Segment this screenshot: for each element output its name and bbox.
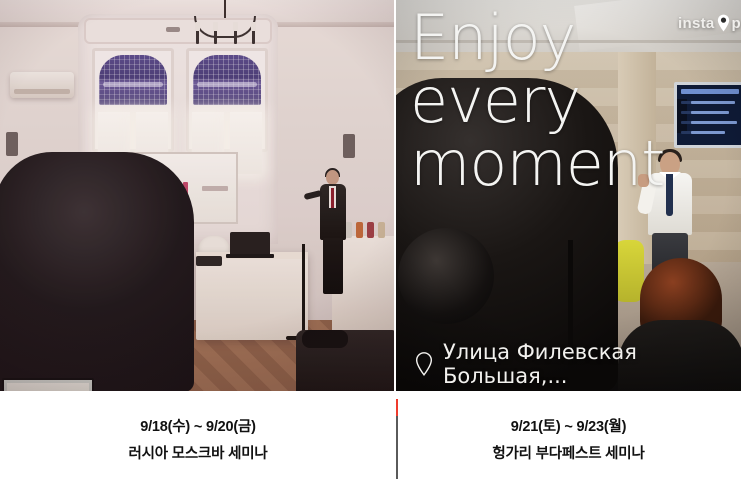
caption-bar: 9/18(수) ~ 9/20(금) 러시아 모스크바 세미나 9/21(토) ~… [0,391,741,491]
chandelier-candle [233,22,238,31]
chandelier-candle [195,22,200,31]
chandelier-arm [214,30,217,44]
caption-dates-moscow: 9/18(수) ~ 9/20(금) [140,415,256,436]
chandelier-arm [196,30,199,44]
photo-gallery: insta p Enjoy every moment [0,0,741,391]
location-text: Улица Филевская Большая,... [443,340,741,388]
presenter-legs [323,238,343,294]
seminar-photo-moscow[interactable] [0,0,394,391]
wall-speaker [6,132,18,156]
bottle [367,222,374,238]
caption-divider [396,399,398,479]
page-root: insta p Enjoy every moment [0,0,741,491]
divider-accent-segment [396,399,398,416]
laptop [230,232,270,256]
presenter-head [326,170,339,185]
camera-lcd-screen [2,378,94,391]
caption-budapest: 9/21(토) ~ 9/23(월) 헝가리 부다페스트 세미나 [396,391,741,491]
map-pin-icon [414,351,434,377]
caption-dates-budapest: 9/21(토) ~ 9/23(월) [511,415,627,436]
caption-title-budapest: 헝가리 부다페스트 세미나 [492,442,644,463]
air-conditioner [10,72,74,98]
wall-speaker [343,134,355,158]
bottle [356,222,363,238]
shoe-silhouette [302,330,348,348]
stained-glass-right [193,55,261,105]
seminar-photo-budapest[interactable]: insta p Enjoy every moment [396,0,741,391]
projector [196,256,222,266]
room-background [0,0,394,391]
caption-title-moscow: 러시아 모스크바 세미나 [128,442,267,463]
slide-text [202,186,228,191]
stained-glass-left [99,55,167,105]
presenter-figure [318,170,348,298]
chandelier-arm [252,30,255,44]
lcd-image [7,383,89,391]
chandelier-candle [251,22,256,31]
caption-moscow: 9/18(수) ~ 9/20(금) 러시아 모스크바 세미나 [0,391,396,491]
photo-location-label: Улица Филевская Большая,... [414,340,741,388]
tripod-pole [302,244,305,340]
photo-overlay: insta p Enjoy every moment [396,0,741,391]
bottle [378,222,385,238]
foreground-camera [0,152,194,391]
presenter-tie [331,188,334,208]
chandelier-arm [234,30,237,44]
chandelier-candle [213,22,218,31]
divider-body-segment [396,416,398,479]
overlay-quote-text: Enjoy every moment [410,6,740,196]
